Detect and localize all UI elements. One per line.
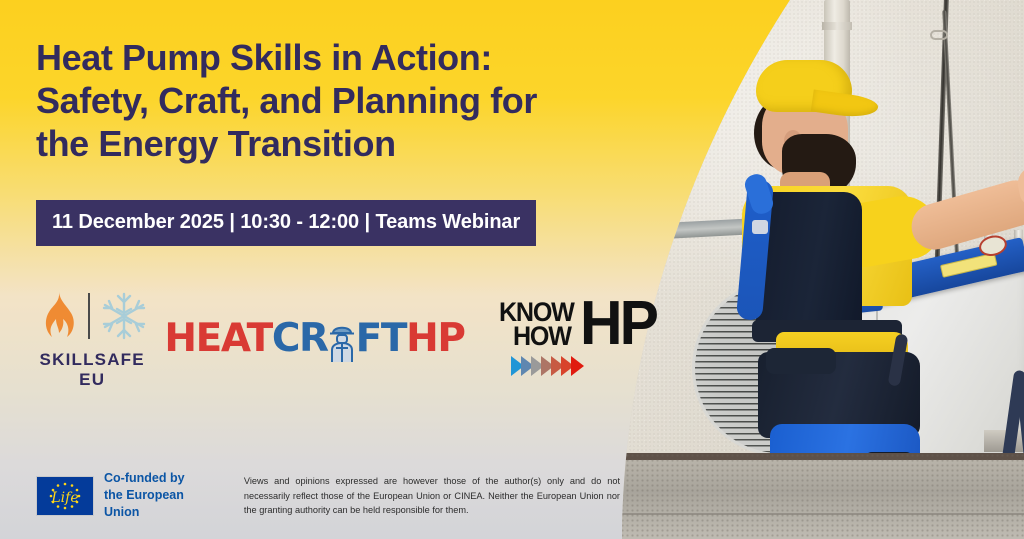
webinar-banner: Heat Pump Skills in Action: Safety, Craf… bbox=[0, 0, 1024, 539]
pipe-band bbox=[822, 22, 852, 30]
heatcraft-cr: CR bbox=[272, 316, 328, 361]
knowhow-words: KNOW HOW bbox=[499, 301, 579, 348]
overalls-clip bbox=[752, 220, 768, 234]
partner-logos-row: SKILLSAFE EU HEAT CR FT HP bbox=[36, 288, 660, 390]
logo-skillsafe-eu: SKILLSAFE EU bbox=[36, 288, 148, 390]
snowflake-icon bbox=[101, 291, 147, 341]
photo-panel bbox=[600, 0, 1024, 539]
eu-text-line-1: Co-funded by bbox=[104, 470, 220, 487]
heat-pump-installation-photo bbox=[600, 0, 1024, 539]
event-datetime-badge: 11 December 2025 | 10:30 - 12:00 | Teams… bbox=[36, 200, 536, 246]
knowhow-top: KNOW HOW HP bbox=[499, 301, 660, 349]
title-line-2: Safety, Craft, and Planning for bbox=[36, 79, 656, 122]
page-title: Heat Pump Skills in Action: Safety, Craf… bbox=[36, 36, 656, 166]
tool-pouch-flap bbox=[766, 348, 836, 374]
eu-cofunding-logo: Life Co-funded by the European Union bbox=[36, 470, 220, 521]
skillsafe-marks bbox=[36, 288, 148, 344]
title-line-3: the Energy Transition bbox=[36, 122, 656, 165]
worker-icon bbox=[326, 320, 358, 362]
block-joint-line bbox=[600, 513, 1024, 515]
chevron-arrows-icon bbox=[511, 356, 660, 376]
eu-disclaimer-text: Views and opinions expressed are however… bbox=[244, 474, 620, 517]
heatcraft-ft: FT bbox=[356, 316, 406, 361]
knowhow-line-2: HOW bbox=[513, 325, 575, 348]
footer: Life Co-funded by the European Union Vie… bbox=[36, 470, 620, 521]
eu-flag-icon: Life bbox=[36, 476, 94, 516]
svg-text:Life: Life bbox=[50, 490, 78, 506]
eu-stars-and-life: Life bbox=[37, 477, 93, 515]
heatcraft-heat: HEAT bbox=[164, 316, 271, 361]
flame-icon bbox=[37, 290, 77, 342]
eu-cofunding-text: Co-funded by the European Union bbox=[104, 470, 220, 521]
knowhow-hp-mark: HP bbox=[580, 299, 656, 349]
heatcraft-hp: HP bbox=[406, 316, 464, 361]
skillsafe-wordmark: SKILLSAFE EU bbox=[36, 350, 148, 390]
logo-heatcraft-hp: HEAT CR FT HP bbox=[164, 316, 464, 361]
logo-knowhow-hp: KNOW HOW HP bbox=[499, 301, 660, 376]
cable-clip bbox=[930, 30, 948, 40]
eu-text-line-2: the European Union bbox=[104, 487, 220, 521]
logo-divider bbox=[88, 293, 90, 339]
content-column: Heat Pump Skills in Action: Safety, Craf… bbox=[0, 0, 660, 539]
title-line-1: Heat Pump Skills in Action: bbox=[36, 36, 656, 79]
concrete-ledge bbox=[600, 453, 1024, 539]
